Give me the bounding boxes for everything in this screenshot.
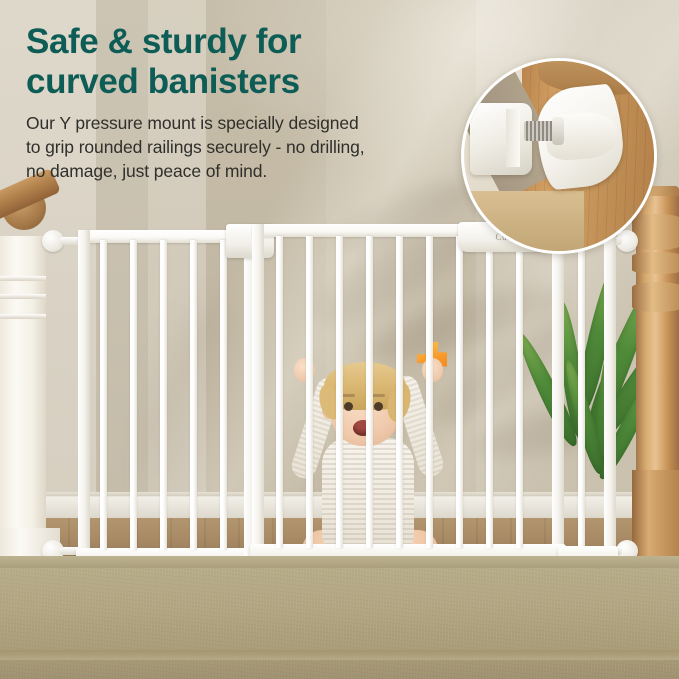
baby-eye xyxy=(374,402,383,411)
carpeted-stair xyxy=(0,568,679,679)
gate-bar xyxy=(276,236,283,548)
marketing-copy: Safe & sturdy for curved banisters Our Y… xyxy=(26,22,456,183)
gate-bar xyxy=(366,236,373,548)
left-newel-post xyxy=(0,236,46,566)
bolt-cap xyxy=(552,117,564,145)
y-mount-detail-photo xyxy=(461,58,657,254)
headline-line-2: curved banisters xyxy=(26,62,456,102)
gate-bar xyxy=(100,240,107,550)
body-copy: Our Y pressure mount is specially design… xyxy=(26,111,456,183)
body-line-2: to grip rounded railings securely - no d… xyxy=(26,135,456,159)
gate-post-far-right xyxy=(604,228,616,560)
gate-bar xyxy=(190,240,197,550)
product-marketing-image: Cumbor Safe & sturdy for curved banister… xyxy=(0,0,679,679)
headline: Safe & sturdy for curved banisters xyxy=(26,22,456,102)
gate-bar xyxy=(486,236,493,548)
newel-turning xyxy=(632,282,679,312)
gate-post-far-left xyxy=(78,230,90,566)
inset-gate-frame-edge xyxy=(506,109,520,167)
gate-bar xyxy=(426,236,433,548)
body-line-1: Our Y pressure mount is specially design… xyxy=(26,111,456,135)
gate-door-post-left xyxy=(252,224,264,570)
headline-line-1: Safe & sturdy for xyxy=(26,22,456,62)
stair-nosing xyxy=(0,650,679,660)
gate-bar xyxy=(306,236,313,548)
baby-eye xyxy=(344,402,353,411)
detail-callout xyxy=(461,58,657,254)
gate-bar xyxy=(456,236,463,548)
gate-bar xyxy=(516,236,523,548)
body-line-3: no damage, just peace of mind. xyxy=(26,159,456,183)
baby-eyebrow xyxy=(342,394,355,397)
baby-eyebrow xyxy=(372,394,385,397)
gate-bar xyxy=(160,240,167,550)
gate-bar xyxy=(130,240,137,550)
newel-turning xyxy=(632,252,679,274)
gate-bar xyxy=(220,240,227,550)
inset-floor xyxy=(464,191,584,251)
inset-gate-frame xyxy=(470,103,532,175)
gate-door-post-right xyxy=(552,224,564,570)
gate-bar xyxy=(336,236,343,548)
gate-bar xyxy=(396,236,403,548)
gate-bar xyxy=(578,240,585,546)
